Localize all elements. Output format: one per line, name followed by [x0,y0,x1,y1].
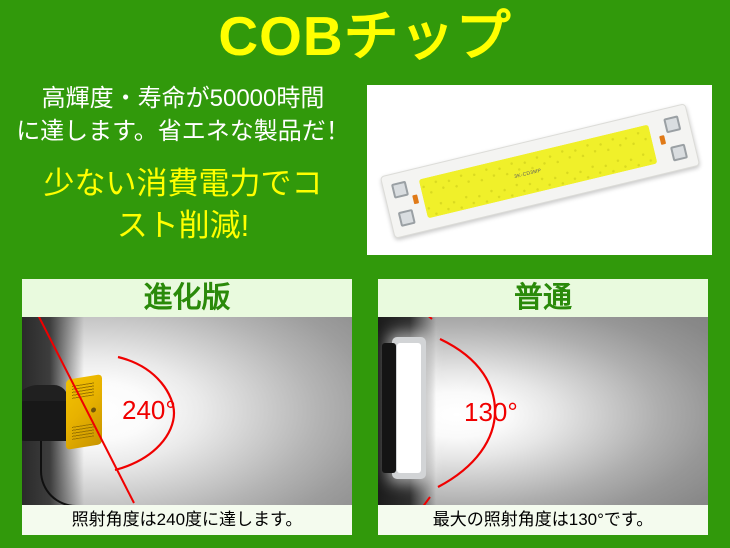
intro-yellow-line-2: スト削減! [8,205,358,247]
intro-white-line-1: 高輝度・寿命が50000時間 [8,82,358,115]
comparison-panel-ordinary: 普通 130° 最大の照射角度は130°です。 [378,279,708,535]
polarity-marker-icon [412,194,419,204]
beam-photo-ordinary: 130° [378,317,708,505]
intro-yellow-line-1: 少ない消費電力でコ [8,163,358,205]
intro-white-line-2: に達します。省エネな製品だ！ [8,115,358,148]
intro-yellow-text: 少ない消費電力でコ スト削減! [8,163,358,247]
page-title: COBチップ [0,2,730,70]
angle-ray-130-upper [396,317,432,319]
intro-white-text: 高輝度・寿命が50000時間 に達します。省エネな製品だ！ [8,82,358,148]
angle-value-130: 130° [464,397,518,428]
solder-pad-icon [398,209,416,227]
panel-heading-advanced: 進化版 [22,279,352,317]
solder-pad-icon [670,143,688,161]
angle-ray-130-lower [408,497,430,505]
cob-led-strip-image: 3K-CD3MP [380,103,700,239]
promo-banner: COBチップ 高輝度・寿命が50000時間 に達します。省エネな製品だ！ 少ない… [0,0,730,548]
polarity-marker-icon [659,135,666,145]
angle-ray-240 [36,317,134,503]
comparison-panel-advanced: 進化版 240° 照射角度は240度に達します。 [22,279,352,535]
angle-annotation-ordinary [378,317,708,505]
product-photo: 3K-CD3MP [367,85,712,255]
solder-pad-icon [391,181,409,199]
panel-heading-ordinary: 普通 [378,279,708,317]
beam-photo-advanced: 240° [22,317,352,505]
panel-caption-ordinary: 最大の照射角度は130°です。 [378,505,708,535]
panel-caption-advanced: 照射角度は240度に達します。 [22,505,352,535]
angle-value-240: 240° [122,395,176,426]
solder-pad-icon [663,115,681,133]
angle-annotation-advanced [22,317,352,505]
